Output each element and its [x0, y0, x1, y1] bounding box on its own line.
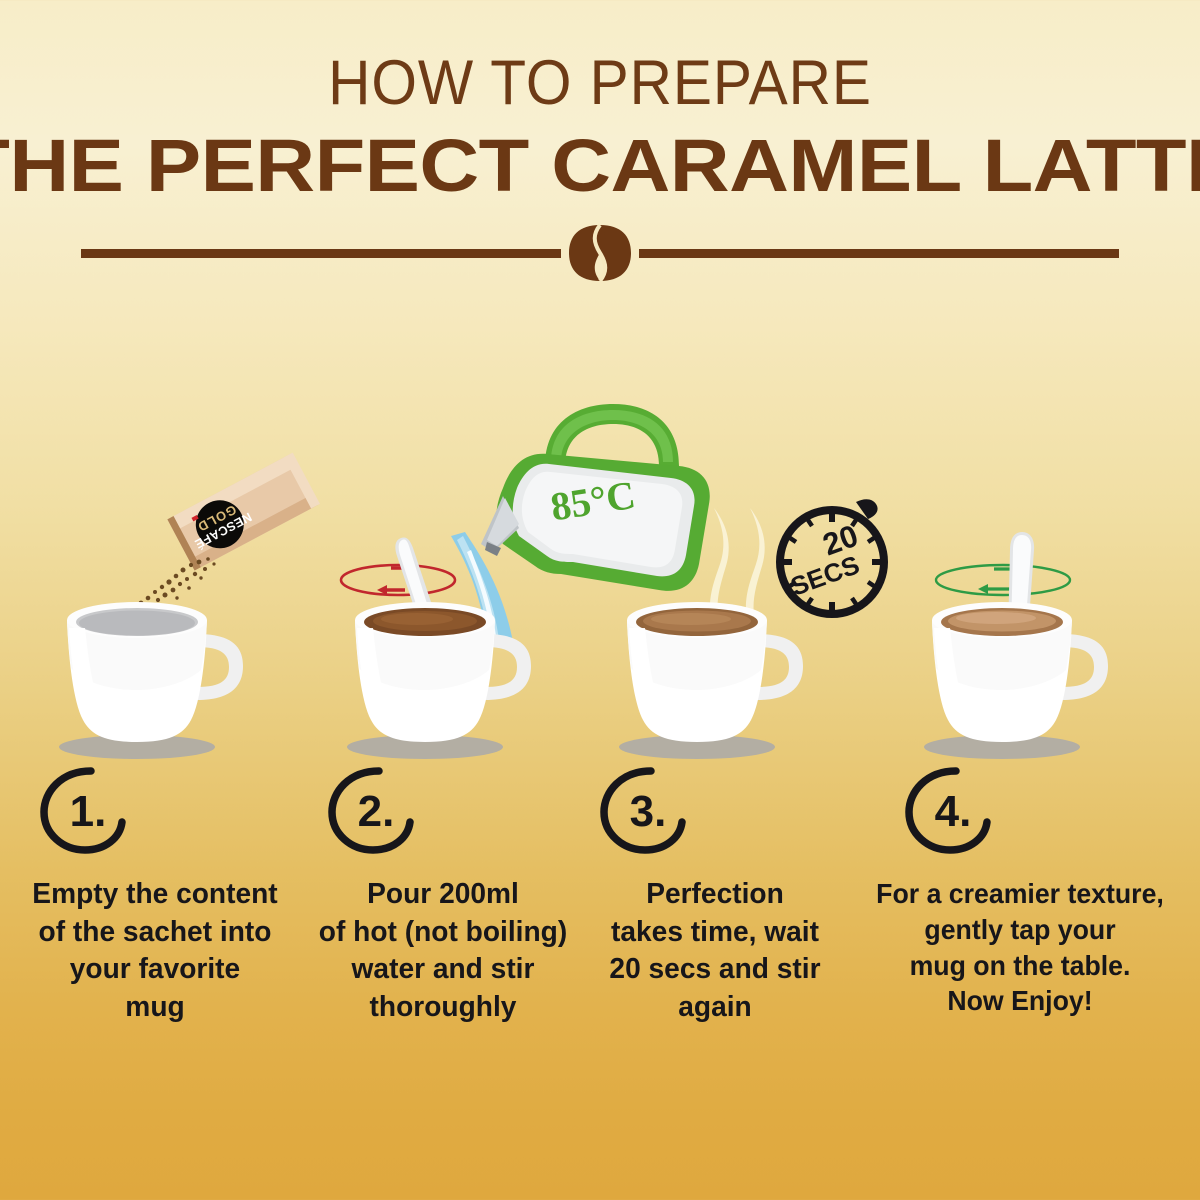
mug-step-4 [870, 584, 1170, 764]
step-1-caption: Empty the contentof the sachet intoyour … [10, 876, 301, 1027]
caption-line: Perfection [570, 876, 861, 914]
step-3: 20 SECS [565, 0, 865, 1200]
caption-line: of the sachet into [10, 914, 301, 952]
caption-line: your favorite [10, 951, 301, 989]
step-2: 85°C [293, 0, 593, 1200]
step-4: 4. For a creamier texture,gently tap you… [870, 0, 1170, 1200]
mug-step-1 [5, 584, 305, 764]
step-1-number: 1. [33, 764, 133, 856]
caption-line: takes time, wait [570, 914, 861, 952]
step-2-number-badge: 2. [293, 764, 593, 860]
step-1: NESCAFÉ GOLD [5, 0, 305, 1200]
caption-line: Empty the content [10, 876, 301, 914]
mug-with-latte-icon [910, 584, 1130, 764]
mug-with-coffee-icon [605, 584, 825, 764]
caption-line: 20 secs and stir [570, 951, 861, 989]
caption-line: Pour 200ml [298, 876, 589, 914]
mug-step-3 [565, 584, 865, 764]
step-2-number: 2. [321, 764, 421, 856]
caption-line: mug [10, 989, 301, 1027]
caption-line: thoroughly [298, 989, 589, 1027]
caption-line: of hot (not boiling) [298, 914, 589, 952]
step-4-number-badge: 4. [870, 764, 1170, 860]
step-4-number: 4. [898, 764, 998, 856]
step-3-caption: Perfectiontakes time, wait20 secs and st… [570, 876, 861, 1027]
caption-line: Now Enjoy! [875, 983, 1166, 1019]
step-3-number: 3. [593, 764, 693, 856]
step-2-caption: Pour 200mlof hot (not boiling)water and … [298, 876, 589, 1027]
caption-line: mug on the table. [875, 948, 1166, 984]
mug-step-2 [293, 584, 593, 764]
caption-line: again [570, 989, 861, 1027]
steps-container: NESCAFÉ GOLD [0, 0, 1200, 1200]
empty-mug-icon [45, 584, 265, 764]
caption-line: water and stir [298, 951, 589, 989]
caption-line: For a creamier texture, [875, 876, 1166, 912]
step-4-caption: For a creamier texture,gently tap yourmu… [875, 876, 1166, 1019]
mug-with-coffee-icon [333, 584, 553, 764]
caption-line: gently tap your [875, 912, 1166, 948]
step-3-number-badge: 3. [565, 764, 865, 860]
step-1-number-badge: 1. [5, 764, 305, 860]
